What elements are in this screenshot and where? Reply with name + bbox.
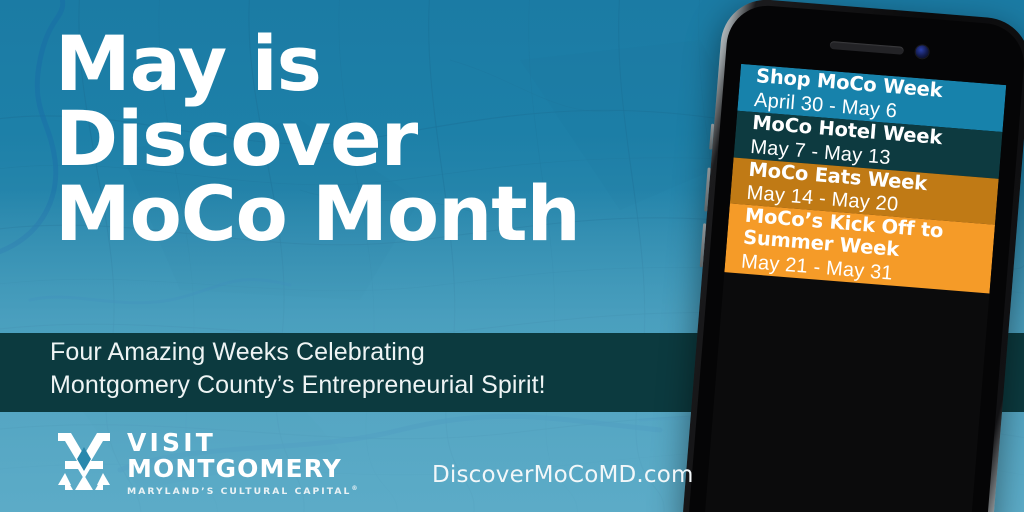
page-title: May is Discover MoCo Month — [55, 26, 695, 252]
visit-montgomery-x-monogram-icon — [55, 432, 113, 494]
logo-tagline: MARYLAND’S CULTURAL CAPITAL® — [127, 485, 357, 497]
logo-wordmark: VISIT MONTGOMERY MARYLAND’S CULTURAL CAP… — [127, 430, 357, 497]
trademark-symbol: ® — [351, 485, 357, 492]
headline-line-3: MoCo Month — [55, 176, 695, 251]
promo-poster: May is Discover MoCo Month Four Amazing … — [0, 0, 1024, 512]
logo-tagline-text: MARYLAND’S CULTURAL CAPITAL — [127, 486, 351, 497]
subheading-text: Four Amazing Weeks Celebrating Montgomer… — [50, 336, 546, 402]
subheading-line-1: Four Amazing Weeks Celebrating — [50, 336, 546, 369]
subheading-line-2: Montgomery County’s Entrepreneurial Spir… — [50, 369, 546, 402]
headline-line-2: Discover — [55, 101, 695, 176]
website-url[interactable]: DiscoverMoCoMD.com — [432, 462, 694, 488]
headline-line-1: May is — [55, 26, 695, 101]
smartphone-mockup: Shop MoCo Week April 30 - May 6 MoCo Hot… — [680, 0, 1024, 512]
visit-montgomery-logo: VISIT MONTGOMERY MARYLAND’S CULTURAL CAP… — [55, 430, 357, 497]
logo-word-montgomery: MONTGOMERY — [127, 456, 357, 482]
phone-screen: Shop MoCo Week April 30 - May 6 MoCo Hot… — [704, 64, 1006, 512]
logo-word-visit: VISIT — [127, 430, 357, 456]
